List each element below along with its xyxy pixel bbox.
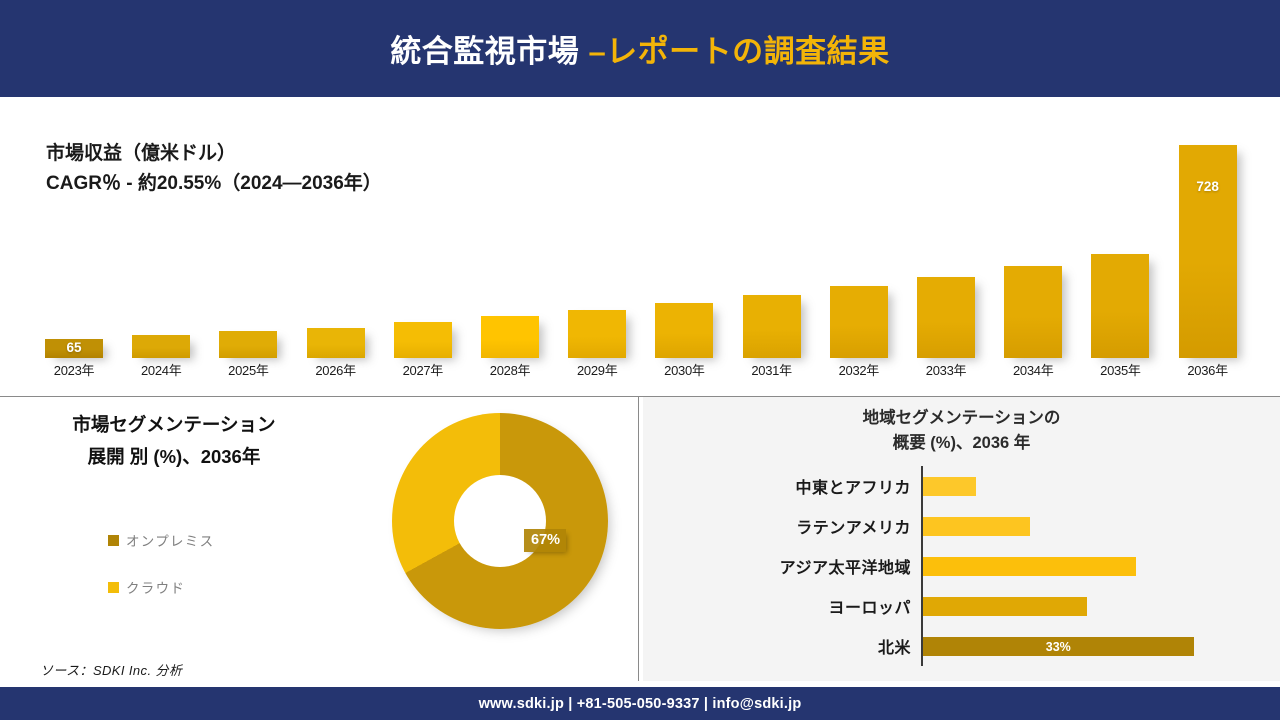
bar-column — [1004, 266, 1062, 358]
page-title-primary: 統合監視市場 — [390, 34, 588, 69]
regional-row: 中東とアフリカ — [643, 466, 1280, 506]
segmentation-title: 市場セグメンテーション 展開 別 (%)、2036年 — [24, 409, 324, 473]
bar-column: 65 — [45, 339, 103, 358]
legend-item[interactable]: クラウド — [108, 577, 214, 597]
bar-data-label: 65 — [45, 340, 103, 355]
bar-column — [917, 277, 975, 358]
bar — [132, 335, 190, 358]
bar-column — [568, 310, 626, 358]
bar-category-label: 2026年 — [307, 360, 365, 379]
bar — [394, 322, 452, 358]
bar — [307, 328, 365, 358]
bar — [917, 277, 975, 358]
bar-column — [743, 295, 801, 358]
segmentation-title-line1: 市場セグメンテーション — [24, 409, 324, 441]
bar-column — [394, 322, 452, 358]
bar — [1091, 254, 1149, 358]
bar-column — [481, 316, 539, 358]
regional-bar-rows: 中東とアフリカラテンアメリカアジア太平洋地域ヨーロッパ北米33% — [643, 466, 1280, 666]
segmentation-panel: 市場セグメンテーション 展開 別 (%)、2036年 オンプレミスクラウド 67… — [0, 397, 638, 681]
donut-data-label: 67% — [524, 529, 566, 552]
regional-row: アジア太平洋地域 — [643, 546, 1280, 586]
bar-category-label: 2029年 — [568, 360, 626, 379]
revenue-bar-chart: 市場収益（億米ドル） CAGR％ - 約20.55%（2024―2036年） 6… — [0, 97, 1280, 397]
footer-contact: www.sdki.jp | +81-505-050-9337 | info@sd… — [479, 696, 802, 712]
bar — [655, 303, 713, 358]
bar-category-label: 2027年 — [394, 360, 452, 379]
bar: 65 — [45, 339, 103, 358]
legend-item-label: オンプレミス — [126, 530, 214, 550]
segmentation-legend: オンプレミスクラウド — [108, 530, 214, 624]
regional-bar — [923, 517, 1030, 536]
bar-column: 728 — [1179, 145, 1237, 358]
regional-category-label: 北米 — [643, 626, 911, 666]
bar-category-label: 2024年 — [132, 360, 190, 379]
bar-column — [219, 331, 277, 358]
bar — [743, 295, 801, 358]
regional-category-label: アジア太平洋地域 — [643, 546, 911, 586]
bar-category-label: 2033年 — [917, 360, 975, 379]
regional-title-line2: 概要 (%)、2036 年 — [643, 431, 1280, 456]
bar-category-label: 2030年 — [655, 360, 713, 379]
bar-category-label: 2034年 — [1004, 360, 1062, 379]
segmentation-title-line2: 展開 別 (%)、2036年 — [24, 441, 324, 473]
regional-row: ヨーロッパ — [643, 586, 1280, 626]
regional-title: 地域セグメンテーションの 概要 (%)、2036 年 — [643, 406, 1280, 456]
bar-column — [830, 286, 888, 358]
bar-category-label: 2036年 — [1179, 360, 1237, 379]
header-bar: 統合監視市場 –レポートの調査結果 — [0, 0, 1280, 97]
bar-series: 652023年2024年2025年2026年2027年2028年2029年203… — [0, 97, 1280, 397]
regional-row: 北米33% — [643, 626, 1280, 666]
regional-category-label: ヨーロッパ — [643, 586, 911, 626]
bar-category-label: 2023年 — [45, 360, 103, 379]
bar — [1004, 266, 1062, 358]
regional-category-label: ラテンアメリカ — [643, 506, 911, 546]
deployment-donut-chart: 67% — [392, 413, 608, 629]
bar-category-label: 2028年 — [481, 360, 539, 379]
bar-column — [132, 335, 190, 358]
regional-title-line1: 地域セグメンテーションの — [643, 406, 1280, 431]
bar-column — [655, 303, 713, 358]
regional-bar-data-label: 33% — [1046, 640, 1071, 654]
bar: 728 — [1179, 145, 1237, 358]
legend-swatch-icon — [108, 535, 119, 546]
regional-row: ラテンアメリカ — [643, 506, 1280, 546]
bar — [568, 310, 626, 358]
bar-category-label: 2035年 — [1091, 360, 1149, 379]
regional-bar — [923, 597, 1087, 616]
bar-data-label: 728 — [1179, 179, 1237, 194]
regional-bar: 33% — [923, 637, 1194, 656]
page-title: 統合監視市場 –レポートの調査結果 — [390, 26, 889, 71]
regional-bar — [923, 557, 1136, 576]
bar-category-label: 2032年 — [830, 360, 888, 379]
infographic-page: 統合監視市場 –レポートの調査結果 市場収益（億米ドル） CAGR％ - 約20… — [0, 0, 1280, 720]
regional-panel: 地域セグメンテーションの 概要 (%)、2036 年 中東とアフリカラテンアメリ… — [643, 397, 1280, 681]
bar — [219, 331, 277, 358]
donut-hole — [454, 475, 546, 567]
bar-column — [307, 328, 365, 358]
regional-bar — [923, 477, 976, 496]
source-note: ソース：SDKI Inc. 分析 — [40, 660, 182, 679]
bar-category-label: 2031年 — [743, 360, 801, 379]
bar-category-label: 2025年 — [219, 360, 277, 379]
regional-category-label: 中東とアフリカ — [643, 466, 911, 506]
legend-item-label: クラウド — [126, 577, 185, 597]
footer-bar: www.sdki.jp | +81-505-050-9337 | info@sd… — [0, 687, 1280, 720]
page-title-accent: –レポートの調査結果 — [588, 34, 889, 69]
legend-item[interactable]: オンプレミス — [108, 530, 214, 550]
vertical-divider — [638, 397, 639, 681]
bar-column — [1091, 254, 1149, 358]
bar — [830, 286, 888, 358]
bar — [481, 316, 539, 358]
legend-swatch-icon — [108, 582, 119, 593]
